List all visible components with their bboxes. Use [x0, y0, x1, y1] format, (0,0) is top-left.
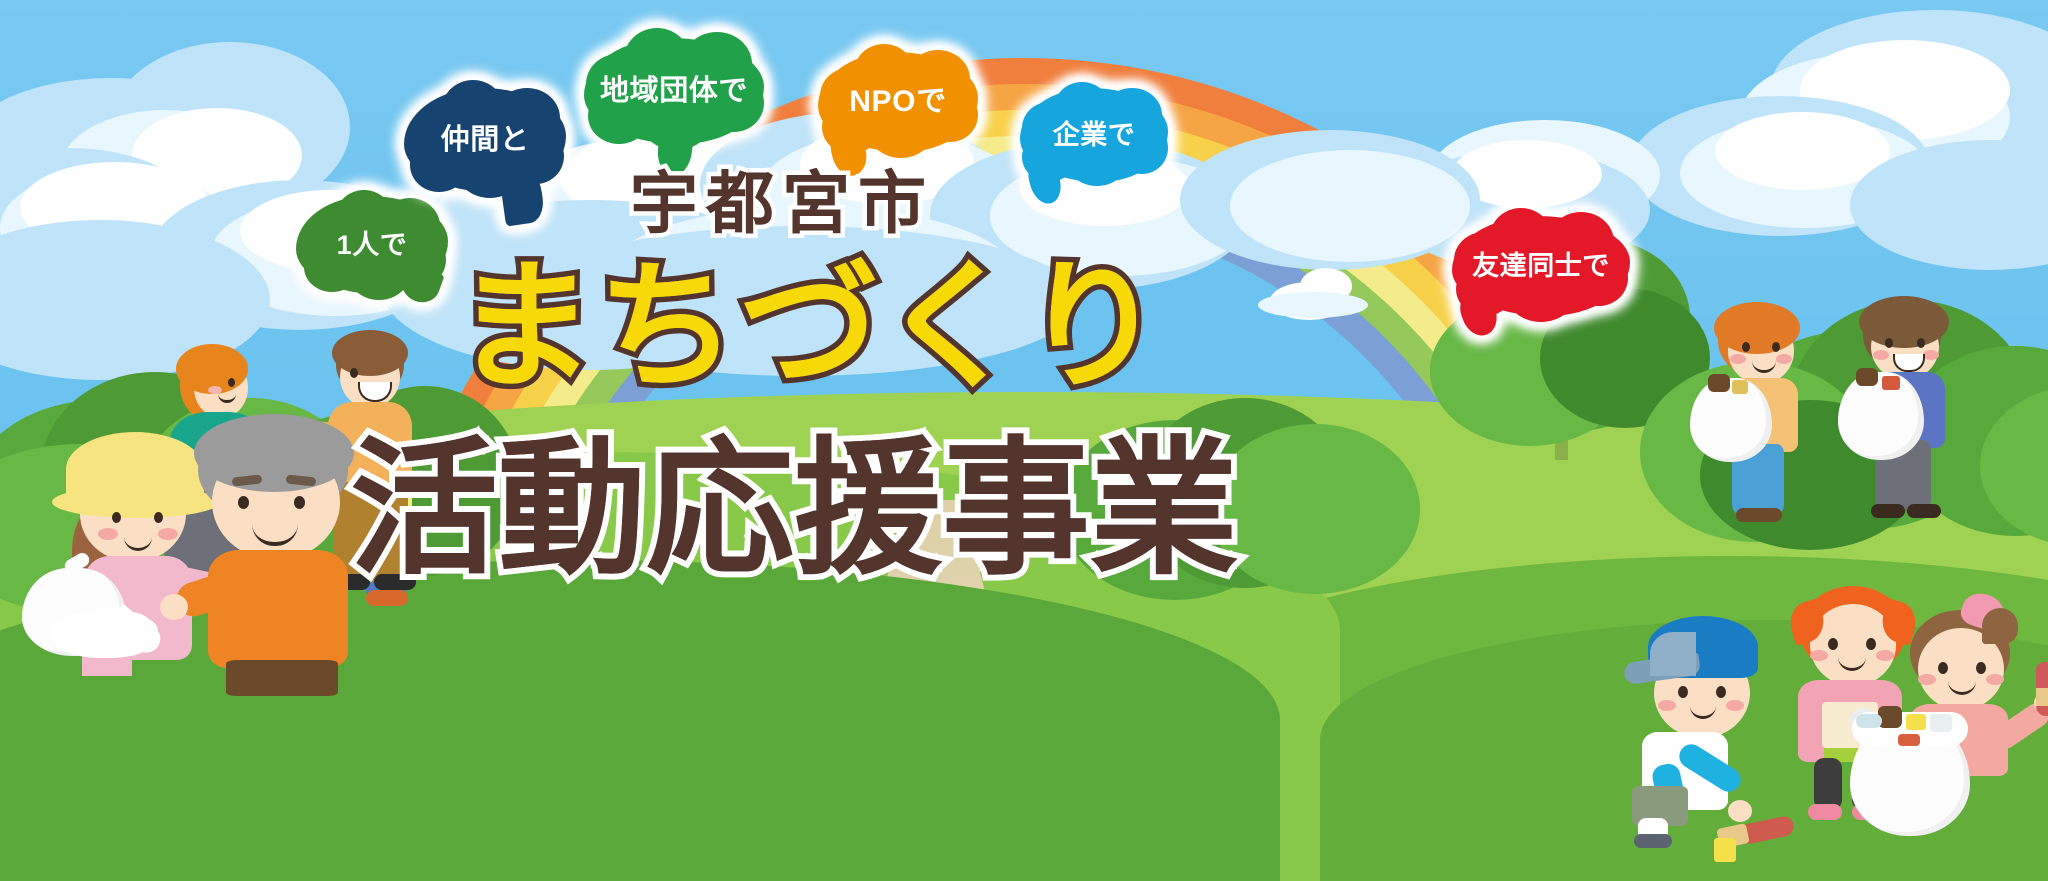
volunteer-cheek	[1923, 350, 1939, 360]
volunteer-eye	[1772, 342, 1780, 352]
boy-shoe	[1634, 834, 1672, 848]
trash-item-bottle	[1708, 374, 1730, 392]
headline-1-fill: まちづくり	[455, 252, 1165, 402]
bubble-label: NPOで	[849, 87, 946, 117]
headline-line-1: まちづくり まちづくり	[455, 252, 1095, 402]
mother-eye	[228, 378, 235, 387]
headline-2-fill: 活動応援事業	[350, 430, 1238, 590]
girl-eye	[1866, 638, 1876, 650]
volunteer-shoe	[1907, 504, 1941, 518]
trash-bag	[1838, 372, 1924, 460]
bubble-label: 企業で	[1053, 122, 1136, 149]
trash-bag	[1690, 378, 1772, 462]
boy-eye	[1678, 686, 1688, 698]
boy-eye	[1716, 686, 1726, 698]
girl-cheek	[98, 528, 118, 540]
boy-cheek	[1726, 700, 1744, 711]
cap-panel	[1650, 632, 1696, 676]
bubble-label: 仲間と	[441, 126, 530, 155]
grandpa-hair-top	[194, 414, 354, 492]
volunteer-shoe	[1871, 504, 1905, 518]
volunteer-cheek	[1730, 354, 1746, 364]
trash-item-can	[1732, 380, 1748, 394]
volunteer-hair-top	[1714, 302, 1800, 354]
bubble-label: 友達同士で	[1472, 253, 1610, 280]
trash-item	[1898, 734, 1920, 746]
volunteer-cheek	[1776, 354, 1792, 364]
bubble-company[interactable]: 企業で	[1020, 88, 1168, 182]
volunteer-eye	[1917, 338, 1925, 348]
trash-item-bottle	[1856, 368, 1878, 386]
bubble-friends[interactable]: 友達同士で	[1452, 216, 1630, 316]
volunteer-shoe	[1736, 508, 1782, 522]
trash-item-can	[1906, 714, 1926, 730]
boy-eye	[350, 368, 358, 378]
trash-item-can	[1882, 376, 1900, 390]
city-title-fill: 宇都宮市	[612, 166, 952, 242]
girl-shoe	[1808, 804, 1842, 820]
volunteer-eye	[1885, 338, 1893, 348]
bubble-label: 地域団体で	[600, 77, 748, 106]
bubble-community[interactable]: 地域団体で	[584, 38, 764, 144]
girl-cheek	[1876, 650, 1894, 661]
girl-cheek	[1918, 674, 1936, 685]
litter-can	[1714, 838, 1736, 862]
headline-line-2: 活動応援事業 活動応援事業	[350, 430, 1230, 590]
grandpa-shirt	[208, 550, 348, 668]
girl-cheek	[158, 528, 178, 540]
grandpa-hand	[160, 594, 188, 620]
volunteer-cheek	[1873, 350, 1889, 360]
girl-eye	[154, 512, 163, 523]
trash-item-bottle	[1856, 714, 1882, 728]
trash-item-bottle	[1878, 706, 1902, 728]
bubble-label: 1人で	[337, 232, 408, 259]
bubble-npo[interactable]: NPOで	[818, 52, 978, 152]
girl-cheek	[1810, 650, 1828, 661]
girl-eye	[1828, 638, 1838, 650]
bubble-peers[interactable]: 仲間と	[404, 88, 566, 192]
bubble-solo[interactable]: 1人で	[296, 196, 448, 294]
boy-hair-top	[332, 330, 408, 376]
girl-eye	[1976, 662, 1986, 674]
cloud-shape	[1230, 150, 1470, 262]
trash-item-can	[1930, 714, 1952, 732]
poster-banner: 1人で 仲間と 地域団体で NPOで	[0, 0, 2048, 881]
bush	[1210, 424, 1420, 594]
grandpa-eye	[238, 496, 249, 509]
grandpa-pants	[226, 660, 338, 696]
held-bottle-label	[2036, 688, 2048, 706]
small-cloud	[1258, 292, 1368, 318]
city-title: 宇都宮市 宇都宮市	[612, 166, 952, 242]
girl-ponytail	[1982, 608, 2018, 644]
volunteer-eye	[1742, 342, 1750, 352]
volunteer-hair-top	[1859, 296, 1949, 348]
boy-cheek	[1658, 700, 1676, 711]
boy-hand	[1728, 800, 1752, 822]
girl-eye	[1938, 662, 1948, 674]
girl-leg	[1814, 758, 1842, 810]
trash-bag-base	[52, 612, 158, 658]
girl-cheek	[1986, 674, 2004, 685]
girl-eye	[112, 512, 121, 523]
grandpa-eye	[294, 496, 305, 509]
